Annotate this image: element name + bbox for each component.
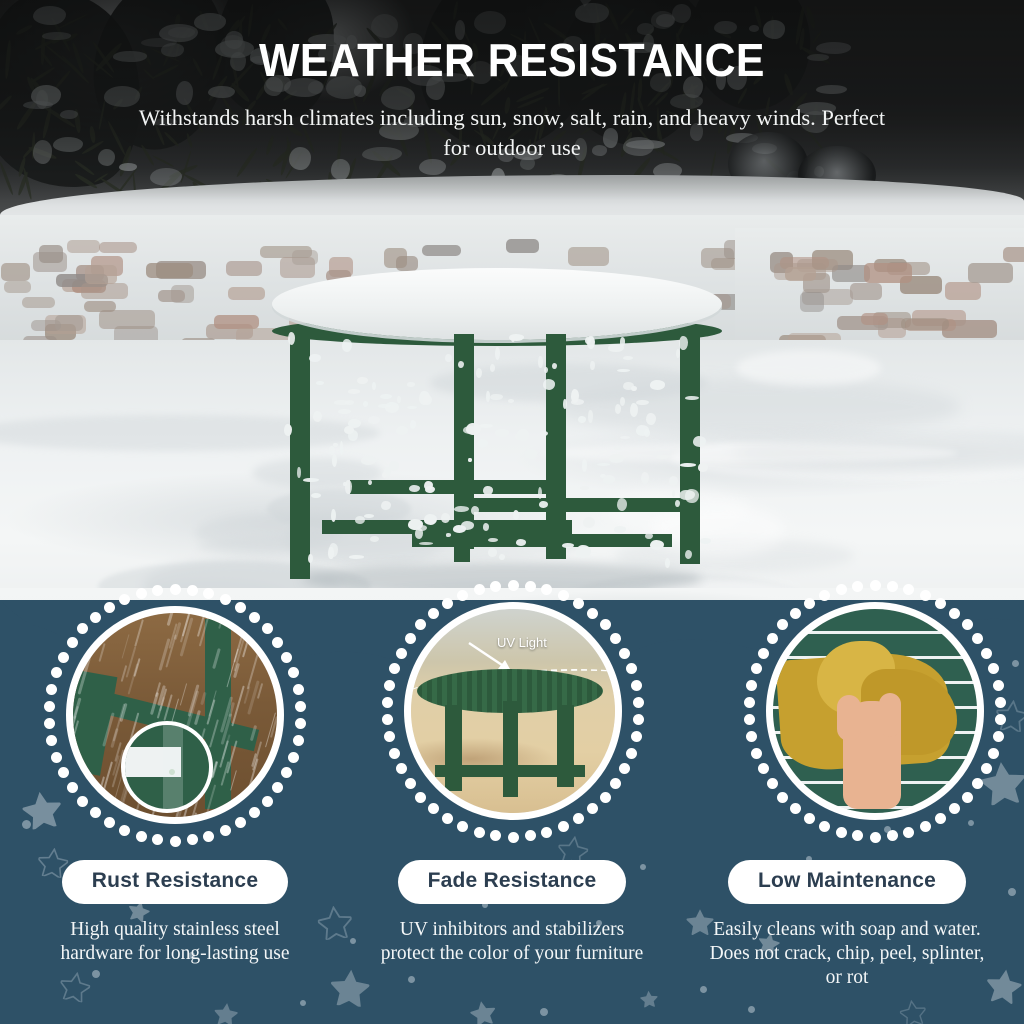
rain-streak [85,820,92,824]
snow-speck [332,454,337,467]
decorative-dot [884,826,891,833]
snow-speck [609,454,623,463]
snow-speck [378,404,390,408]
brick [4,281,31,293]
snow-speck [445,354,452,363]
rain-streak [168,820,180,824]
snow-speck [679,490,694,500]
brick [800,292,824,312]
snow-speck [284,424,292,436]
snow-speck [334,400,350,404]
snow-speck [630,403,638,417]
feature-title-badge[interactable]: Rust Resistance [62,860,288,904]
snow-speck [349,555,364,559]
brick [945,282,981,300]
brick [422,245,461,257]
brick [55,315,83,331]
snow-speck [309,354,320,362]
brick [99,242,138,253]
decorative-dot [22,820,31,829]
snow-speck [693,436,706,447]
snow-speck [297,467,300,479]
snow-speck [495,347,500,360]
brick [99,310,155,329]
brick [228,287,265,300]
feature-title-badge[interactable]: Fade Resistance [398,860,627,904]
snow-speck [316,381,323,385]
inset-fade-resistance: UV Light [404,602,622,820]
brick [901,318,950,330]
snow-speck [471,506,479,515]
snow-speck [669,476,678,486]
snow-speck [495,429,508,438]
snow-speck [483,486,492,494]
snow-speck [458,361,464,368]
snow-speck [483,523,490,531]
snow-speck [517,429,528,441]
snow-speck [603,475,615,484]
star-filled-icon [978,758,1024,807]
snow-speck [407,406,417,409]
snow-speck [397,396,400,403]
hero-text-block: WEATHER RESISTANCE Withstands harsh clim… [0,36,1024,164]
snow-speck [563,399,567,408]
snow-speck [675,500,680,507]
brick [1,263,30,281]
snow-speck [364,514,375,518]
snow-speck [381,501,391,511]
snow-speck [650,540,664,550]
snow-speck [590,361,594,370]
snow-speck [562,543,573,548]
feature-card-rust-resistance[interactable]: Rust Resistance High quality stainless s… [10,860,340,966]
snow-speck [396,426,407,435]
snow-speck [370,536,380,542]
table-leg [680,334,700,564]
brick [864,263,913,284]
rain-streak [175,823,182,824]
snow-speck [477,439,488,448]
snow-speck [576,545,591,558]
snow-speck [608,344,624,353]
snow-speck [587,336,595,350]
fade-resistance-photo: UV Light [411,609,615,813]
snow-speck [588,410,592,423]
snow-speck [488,538,497,542]
snow-speck [490,364,496,372]
inset-rust-resistance [66,606,284,824]
snow-speck [582,459,588,472]
snow-speck [380,394,392,399]
brick [850,283,882,299]
snow-speck [672,490,675,497]
snow-speck [698,463,708,471]
snow-speck [508,399,514,403]
feature-title-badge[interactable]: Low Maintenance [728,860,966,904]
snow-speck [617,369,630,372]
snow-speck [308,554,313,563]
feature-description: UV inhibitors and stabilizers protect th… [347,918,677,966]
feature-card-fade-resistance[interactable]: Fade Resistance UV inhibitors and stabil… [347,860,677,966]
snow-speck [620,436,630,439]
page-subtitle: Withstands harsh climates including sun,… [132,103,892,164]
snow-covered-tabletop [272,268,722,340]
snow-speck [656,455,669,460]
snow-speck [345,480,351,494]
feature-description: Easily cleans with soap and water. Does … [682,918,1012,991]
brick [146,263,192,278]
brick [85,265,117,285]
brick [226,261,262,276]
snow-speck [363,401,368,407]
snow-speck [685,550,692,559]
snow-speck [372,382,376,390]
circle-frame [766,602,984,820]
snow-speck [476,368,482,378]
snow-speck [357,377,368,384]
low-maintenance-photo [773,609,977,813]
brick [158,290,185,303]
snow-speck [419,391,429,405]
snow-speck [409,485,420,492]
rain-streak [175,818,180,824]
snow-speck [415,528,423,539]
brick [67,240,100,253]
decorative-dot [1012,660,1019,667]
table-rail [412,534,672,547]
snow-speck [419,542,433,545]
rain-streak [178,821,188,824]
snow-speck [410,420,416,430]
star-outline-icon [994,698,1024,732]
snow-speck [646,413,656,425]
snow-speck [488,548,497,556]
rain-streak [216,821,223,824]
infographic-root: WEATHER RESISTANCE Withstands harsh clim… [0,0,1024,1024]
snow-speck [329,543,338,557]
brick [861,313,888,325]
snow-speck [623,356,633,360]
uv-light-label: UV Light [497,635,547,650]
table-rail [350,480,550,494]
snow-speck [525,449,537,459]
rain-streak [66,719,70,745]
snow-speck [407,382,415,386]
snow-speck [650,380,665,389]
snow-speck [679,336,688,350]
table-rail [435,765,585,777]
table-leg [503,701,518,797]
table-leg [445,705,462,791]
snow-speck [340,441,343,455]
snow-drift [736,350,881,386]
snow-speck [578,416,586,422]
hero-photo: WEATHER RESISTANCE Withstands harsh clim… [0,0,1024,660]
snow-speck [355,516,365,524]
finger [837,695,861,741]
feature-card-row: Rust Resistance High quality stainless s… [0,860,1024,1024]
decorative-dot [968,820,974,826]
brick [506,239,539,253]
snow-speck [571,399,584,405]
snow-speck [511,335,515,341]
rain-streak [278,620,284,643]
table-leg [290,334,310,579]
snow-speck [389,461,399,470]
snow-speck [361,456,376,464]
snow-speck [583,517,595,528]
snow-speck [486,391,489,402]
brick [968,263,1014,283]
brick [214,315,260,329]
circle-frame: UV Light [404,602,622,820]
snow-speck [543,379,555,390]
finger [879,693,901,737]
brick [39,245,64,264]
brick [22,297,55,308]
page-title: WEATHER RESISTANCE [36,36,988,85]
snow-speck [338,409,351,414]
snow-speck [614,526,626,532]
snow-speck [490,394,503,401]
rust-resistance-photo [73,613,277,817]
snow-speck [614,446,621,450]
rain-streak [277,657,284,685]
snow-speck [538,356,542,368]
snow-speck [303,478,318,482]
snow-speck [552,363,557,369]
rain-streak [66,758,68,771]
snow-speck [620,397,625,406]
brick [81,283,127,299]
snow-speck [313,411,322,422]
snow-speck [342,339,352,352]
snow-speck [665,558,669,568]
snow-speck [348,389,360,394]
stainless-screw-icon [169,769,175,775]
table-rail [458,498,698,512]
snow-speck [468,458,471,462]
snow-speck [368,416,380,425]
snow-speck [466,423,481,435]
brick [1003,247,1024,262]
circle-frame [66,606,284,824]
inset-low-maintenance [766,602,984,820]
snow-speck [539,501,548,508]
brick [785,267,816,280]
snow-speck [700,538,711,543]
snow-speck [499,554,505,560]
snow-speck [597,463,611,466]
snow-speck [636,400,649,405]
snow-speck [615,404,621,414]
snow-speck [382,472,387,478]
green-outdoor-table [262,262,732,592]
snow-speck [311,493,321,498]
snow-speck [516,539,527,546]
snow-speck [446,533,452,536]
feature-description: High quality stainless steel hardware fo… [10,918,340,966]
snow-speck [580,486,589,490]
snow-speck [641,472,649,484]
snow-speck [513,510,519,520]
feature-card-low-maintenance[interactable]: Low Maintenance Easily cleans with soap … [682,860,1012,991]
hardware-zoom-bubble [121,721,213,813]
